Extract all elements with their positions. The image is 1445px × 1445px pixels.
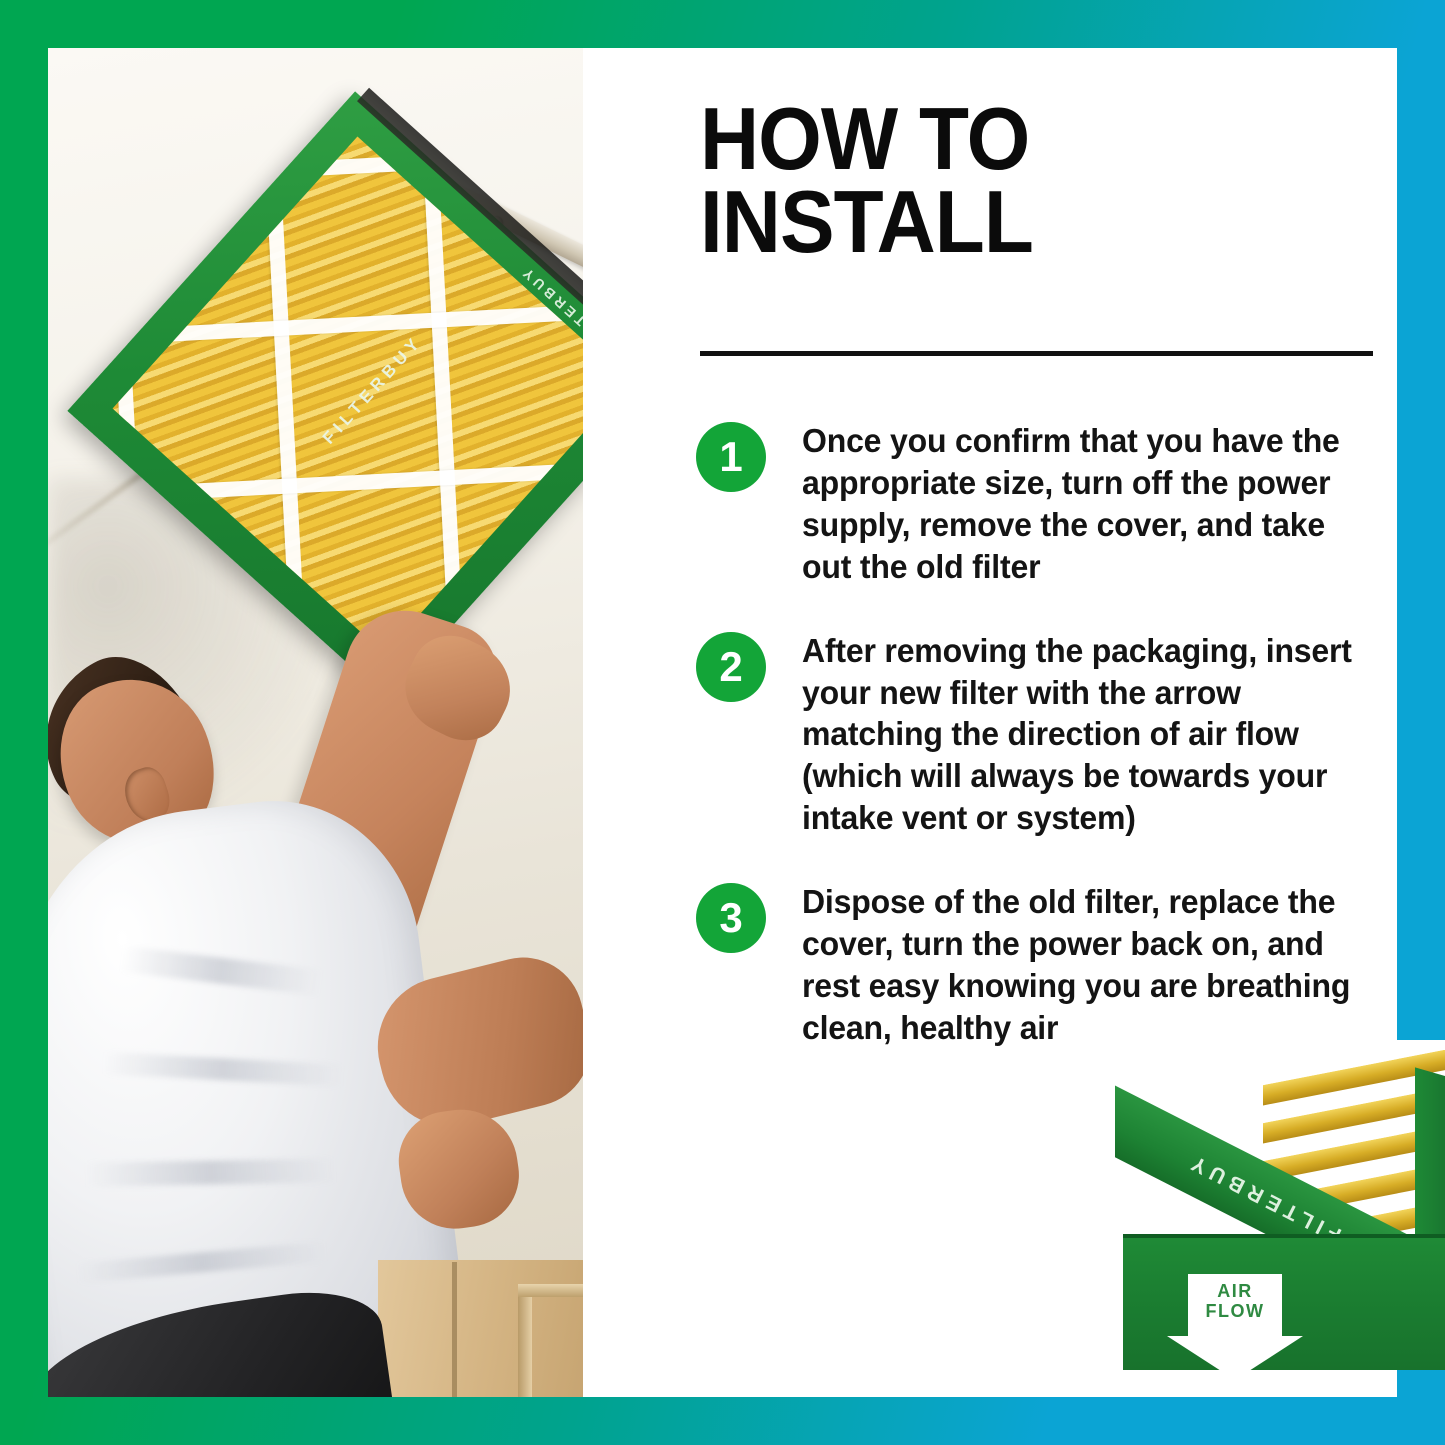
page-title-line-1: HOW TO (700, 98, 1332, 181)
page-title-line-2: INSTALL (700, 181, 1332, 264)
steps-list: 1 Once you confirm that you have the app… (696, 420, 1396, 1091)
air-flow-arrow-head (1167, 1336, 1303, 1370)
door-edge (452, 1262, 457, 1397)
air-flow-label: AIR FLOW (1188, 1281, 1282, 1321)
door-trim (518, 1284, 532, 1397)
air-flow-label-line-2: FLOW (1188, 1301, 1282, 1321)
list-item: 2 After removing the packaging, insert y… (696, 630, 1396, 840)
page-title: HOW TO INSTALL (700, 98, 1332, 263)
list-item: 1 Once you confirm that you have the app… (696, 420, 1396, 588)
step-number-badge: 1 (696, 422, 766, 492)
door-trim-top (518, 1284, 583, 1297)
air-flow-label-line-1: AIR (1188, 1281, 1282, 1301)
install-photo: FILTERBUY FILTERBUY (48, 48, 583, 1397)
product-filter-image: FILTERBUY AIR FLOW (1115, 1040, 1445, 1370)
list-item: 3 Dispose of the old filter, replace the… (696, 881, 1396, 1049)
air-flow-arrow-icon: AIR FLOW (1188, 1274, 1282, 1370)
door-background (378, 1260, 583, 1397)
step-description: Once you confirm that you have the appro… (802, 420, 1378, 588)
title-divider (700, 351, 1373, 356)
step-description: Dispose of the old filter, replace the c… (802, 881, 1378, 1049)
step-number-badge: 2 (696, 632, 766, 702)
step-number-badge: 3 (696, 883, 766, 953)
step-description: After removing the packaging, insert you… (802, 630, 1378, 840)
